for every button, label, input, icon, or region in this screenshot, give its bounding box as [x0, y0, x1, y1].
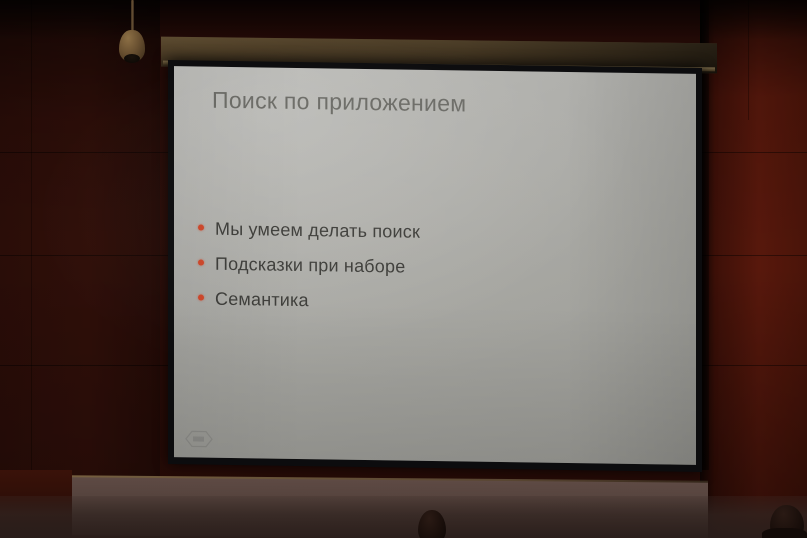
bullet-label: Подсказки при наборе [215, 254, 405, 278]
pendant-lamp-aperture [124, 54, 140, 63]
list-item: Мы умеем делать поиск [198, 218, 420, 242]
bullet-dot-icon [198, 259, 204, 265]
audience-shoulders-right [762, 528, 807, 538]
foreground-shadow [0, 496, 807, 538]
slide-watermark-logo-icon [184, 430, 214, 447]
ceiling-shadow [0, 0, 807, 40]
slide-bullet-list: Мы умеем делать поиск Подсказки при набо… [198, 218, 420, 326]
auditorium-photo-scene: Поиск по приложением Мы умеем делать пои… [0, 0, 807, 538]
bullet-label: Семантика [215, 289, 309, 311]
projector-screen-surface: Поиск по приложением Мы умеем делать пои… [174, 66, 696, 465]
left-wall-paneling [0, 0, 160, 538]
pendant-lamp-rod [131, 0, 134, 34]
wall-vertical-seam [31, 0, 32, 470]
bullet-label: Мы умеем делать поиск [215, 219, 420, 243]
slide-title: Поиск по приложением [212, 87, 466, 118]
list-item: Подсказки при наборе [198, 253, 420, 277]
list-item: Семантика [198, 288, 420, 312]
bullet-dot-icon [198, 224, 204, 230]
bullet-dot-icon [198, 294, 204, 300]
right-wall-paneling [700, 0, 807, 538]
